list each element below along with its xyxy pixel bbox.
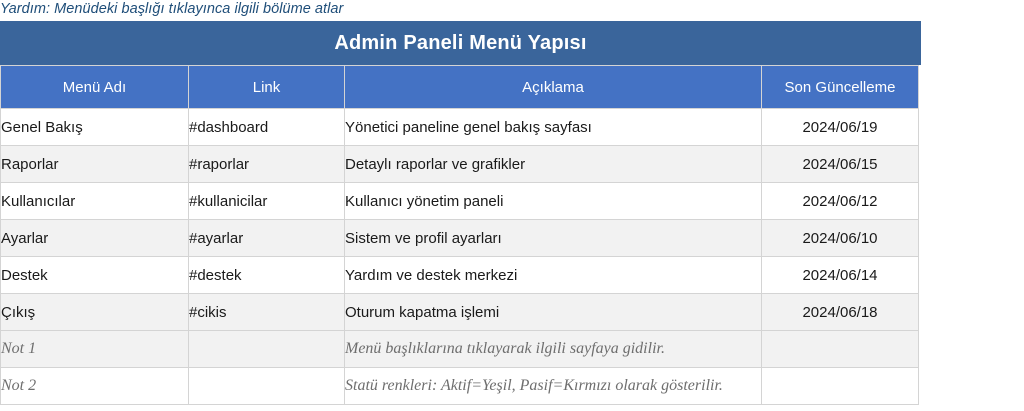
cell-menu-name: Genel Bakış [1, 109, 189, 146]
cell-description: Kullanıcı yönetim paneli [345, 183, 762, 220]
cell-menu-name: Destek [1, 257, 189, 294]
cell-menu-name: Çıkış [1, 294, 189, 331]
cell-description: Oturum kapatma işlemi [345, 294, 762, 331]
column-header-description[interactable]: Açıklama [345, 66, 762, 109]
cell-last-update: 2024/06/18 [762, 294, 919, 331]
note-link [189, 331, 345, 368]
column-header-menu-name[interactable]: Menü Adı [1, 66, 189, 109]
note-label: Not 2 [1, 368, 189, 405]
note-link [189, 368, 345, 405]
cell-description: Detaylı raporlar ve grafikler [345, 146, 762, 183]
column-header-link[interactable]: Link [189, 66, 345, 109]
note-text-cell: Statü renkleri: Aktif=Yeşil, Pasif=Kırmı… [345, 368, 762, 405]
table-row[interactable]: Kullanıcılar #kullanicilar Kullanıcı yön… [1, 183, 919, 220]
cell-link[interactable]: #destek [189, 257, 345, 294]
cell-menu-name: Raporlar [1, 146, 189, 183]
table-row[interactable]: Raporlar #raporlar Detaylı raporlar ve g… [1, 146, 919, 183]
table-row[interactable]: Destek #destek Yardım ve destek merkezi … [1, 257, 919, 294]
table-note-row: Not 2 Statü renkleri: Aktif=Yeşil, Pasif… [1, 368, 919, 405]
cell-last-update: 2024/06/10 [762, 220, 919, 257]
cell-description: Yardım ve destek merkezi [345, 257, 762, 294]
cell-link[interactable]: #dashboard [189, 109, 345, 146]
cell-link[interactable]: #cikis [189, 294, 345, 331]
help-caption: Yardım: Menüdeki başlığı tıklayınca ilgi… [0, 0, 900, 19]
cell-link[interactable]: #raporlar [189, 146, 345, 183]
note-label: Not 1 [1, 331, 189, 368]
cell-last-update: 2024/06/12 [762, 183, 919, 220]
cell-menu-name: Kullanıcılar [1, 183, 189, 220]
table-row[interactable]: Genel Bakış #dashboard Yönetici paneline… [1, 109, 919, 146]
cell-link[interactable]: #kullanicilar [189, 183, 345, 220]
table-title-bar: Admin Paneli Menü Yapısı [0, 21, 921, 65]
cell-description: Sistem ve profil ayarları [345, 220, 762, 257]
table-row[interactable]: Ayarlar #ayarlar Sistem ve profil ayarla… [1, 220, 919, 257]
note-date [762, 331, 919, 368]
menu-structure-table: Menü Adı Link Açıklama Son Güncelleme Ge… [0, 65, 919, 405]
column-header-last-update[interactable]: Son Güncelleme [762, 66, 919, 109]
note-text-cell: Menü başlıklarına tıklayarak ilgili sayf… [345, 331, 762, 368]
cell-menu-name: Ayarlar [1, 220, 189, 257]
cell-link[interactable]: #ayarlar [189, 220, 345, 257]
cell-description: Yönetici paneline genel bakış sayfası [345, 109, 762, 146]
table-header-row: Menü Adı Link Açıklama Son Güncelleme [1, 66, 919, 109]
note-date [762, 368, 919, 405]
page-title: Admin Paneli Menü Yapısı [334, 32, 586, 55]
menu-structure-table-wrapper: Admin Paneli Menü Yapısı Menü Adı Link A… [0, 21, 921, 405]
cell-last-update: 2024/06/19 [762, 109, 919, 146]
table-note-row: Not 1 Menü başlıklarına tıklayarak ilgil… [1, 331, 919, 368]
table-row[interactable]: Çıkış #cikis Oturum kapatma işlemi 2024/… [1, 294, 919, 331]
cell-last-update: 2024/06/14 [762, 257, 919, 294]
table-head: Menü Adı Link Açıklama Son Güncelleme [1, 66, 919, 109]
cell-last-update: 2024/06/15 [762, 146, 919, 183]
table-body: Genel Bakış #dashboard Yönetici paneline… [1, 109, 919, 405]
